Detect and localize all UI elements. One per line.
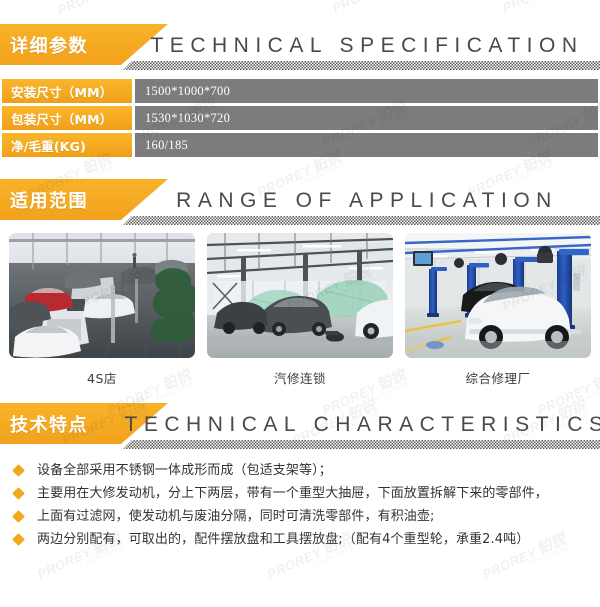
photo-repair-chain-graphic [207,233,393,358]
watermark-subtext: PROREY汽保科技 [41,545,125,586]
photo-repair-factory[interactable] [405,233,591,358]
table-row: 安装尺寸（MM） 1500*1000*700 [2,79,598,103]
photo-4s-dealership[interactable] [9,233,195,358]
watermark-subtext: PROREY汽保科技 [486,545,570,586]
diamond-bullet-icon [12,464,25,477]
watermark-brand-en: PROREY [35,544,94,581]
section-banner-label: 技术特点 [0,411,88,437]
gallery-caption: 综合修理厂 [465,368,530,387]
spec-value-install-size: 1500*1000*700 [135,79,598,103]
section-title-en: TECHNICAL SPECIFICATION [140,28,594,64]
diamond-bullet-icon [12,533,25,546]
section-header-technical-characteristics: 技术特点 TECHNICAL CHARACTERISTICS [0,403,600,451]
top-spacer [0,0,600,24]
gallery-caption: 汽修连锁 [274,368,326,387]
list-item: 设备全部采用不锈钢一体成形而成（包适支架等）； [14,461,592,480]
spec-label-install-size: 安装尺寸（MM） [2,79,132,103]
spec-value-package-size: 1530*1030*720 [135,106,598,130]
table-row: 净/毛重(KG) 160/185 [2,133,598,157]
section-title-en: TECHNICAL CHARACTERISTICS [140,407,594,443]
feature-text: 两边分别配有，可取出的，配件摆放盘和工具摆放盘;（配有4个重型轮，承重2.4吨） [37,530,529,549]
gallery-item: 4S店 [9,233,195,387]
feature-text: 设备全部采用不锈钢一体成形而成（包适支架等）； [37,461,332,480]
gallery-item: 汽修连锁 [207,233,393,387]
gallery-item: 综合修理厂 [405,233,591,387]
section-banner-label: 详细参数 [0,32,88,58]
section-header-range-of-application: 适用范围 RANGE OF APPLICATION [0,179,600,227]
spec-value-net-gross-weight: 160/185 [135,133,598,157]
feature-text: 上面有过滤网，使发动机与废油分隔，同时可清洗零部件，有积油壶; [37,507,434,526]
list-item: 两边分别配有，可取出的，配件摆放盘和工具摆放盘;（配有4个重型轮，承重2.4吨） [14,530,592,549]
table-row: 包装尺寸（MM） 1530*1030*720 [2,106,598,130]
diamond-bullet-icon [12,487,25,500]
watermark-brand-en: PROREY [265,544,324,581]
feature-list: 设备全部采用不锈钢一体成形而成（包适支架等）； 主要用在大修发动机，分上下两层，… [0,451,600,549]
gallery-caption: 4S店 [87,368,117,387]
application-gallery: 4S店 [0,227,600,387]
diamond-bullet-icon [12,510,25,523]
section-title-en: RANGE OF APPLICATION [140,183,594,219]
spec-table: 安装尺寸（MM） 1500*1000*700 包装尺寸（MM） 1530*103… [2,79,598,157]
section-spacer [0,157,600,179]
feature-text: 主要用在大修发动机，分上下两层，带有一个重型大抽屉，下面放置拆解下来的零部件， [37,484,548,503]
list-item: 上面有过滤网，使发动机与废油分隔，同时可清洗零部件，有积油壶; [14,507,592,526]
photo-4s-dealership-graphic [9,233,195,358]
section-header-technical-specification: 详细参数 TECHNICAL SPECIFICATION [0,24,600,72]
photo-repair-factory-graphic [405,233,591,358]
watermark-brand-en: PROREY [480,544,539,581]
section-banner-label: 适用范围 [0,187,88,213]
spec-label-package-size: 包装尺寸（MM） [2,106,132,130]
photo-repair-chain[interactable] [207,233,393,358]
section-spacer [0,387,600,403]
list-item: 主要用在大修发动机，分上下两层，带有一个重型大抽屉，下面放置拆解下来的零部件， [14,484,592,503]
spec-label-net-gross-weight: 净/毛重(KG) [2,133,132,157]
watermark-subtext: PROREY汽保科技 [271,545,355,586]
